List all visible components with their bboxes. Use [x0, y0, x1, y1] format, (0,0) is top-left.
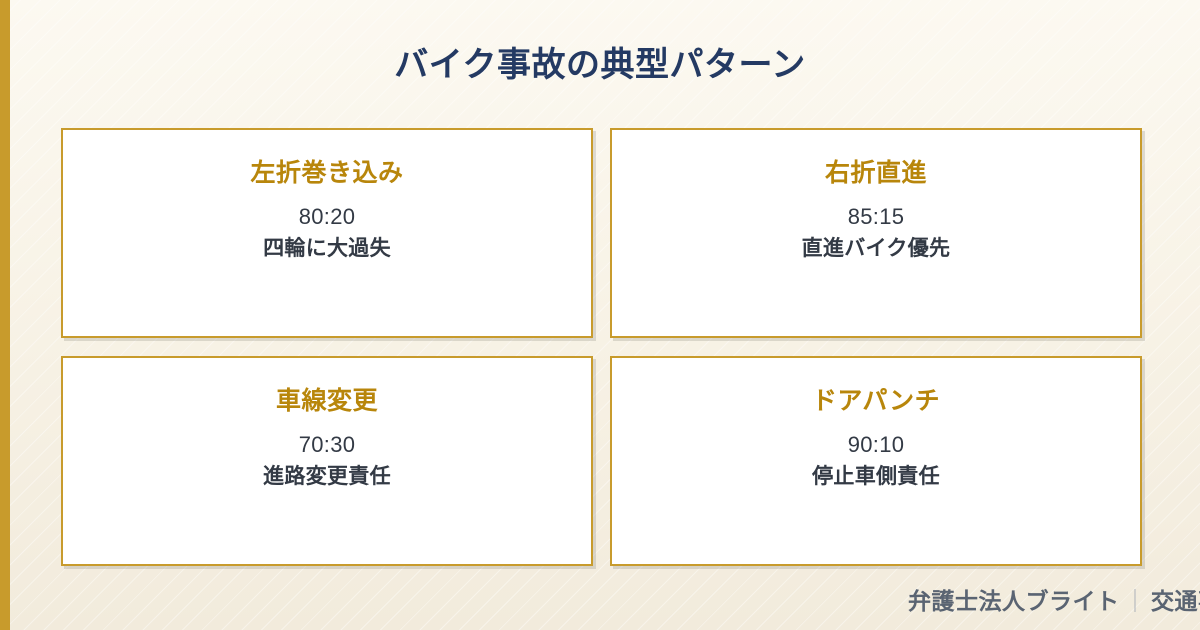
- footer-tagline: 交通事故 の: [1151, 588, 1200, 614]
- card-title: ドアパンチ: [612, 384, 1140, 418]
- card-fault-ratio: 70:30: [63, 430, 591, 460]
- pattern-card-door-punch: ドアパンチ 90:10 停止車側責任: [610, 356, 1142, 566]
- card-fault-ratio: 90:10: [612, 430, 1140, 460]
- left-accent-bar: [0, 0, 10, 630]
- pattern-card-grid: 左折巻き込み 80:20 四輪に大過失 右折直進 85:15 直進バイク優先 車…: [61, 128, 1142, 566]
- card-note: 四輪に大過失: [63, 234, 591, 264]
- card-note: 進路変更責任: [63, 462, 591, 492]
- pattern-card-lane-change: 車線変更 70:30 進路変更責任: [61, 356, 593, 566]
- pattern-card-right-turn: 右折直進 85:15 直進バイク優先: [610, 128, 1142, 338]
- footer-firm-name: 弁護士法人ブライト: [908, 588, 1120, 614]
- card-note: 直進バイク優先: [612, 234, 1140, 264]
- card-title: 左折巻き込み: [63, 156, 591, 190]
- slide-content: バイク事故の典型パターン 左折巻き込み 80:20 四輪に大過失 右折直進 85…: [0, 0, 1200, 630]
- slide-canvas: バイク事故の典型パターン 左折巻き込み 80:20 四輪に大過失 右折直進 85…: [0, 0, 1200, 630]
- card-note: 停止車側責任: [612, 462, 1140, 492]
- card-fault-ratio: 80:20: [63, 202, 591, 232]
- card-fault-ratio: 85:15: [612, 202, 1140, 232]
- page-title: バイク事故の典型パターン: [0, 43, 1200, 87]
- card-title: 右折直進: [612, 156, 1140, 190]
- footer-branding: 弁護士法人ブライト｜交通事故 の: [908, 585, 1200, 617]
- footer-separator: ｜: [1120, 588, 1152, 614]
- card-title: 車線変更: [63, 384, 591, 418]
- pattern-card-left-turn: 左折巻き込み 80:20 四輪に大過失: [61, 128, 593, 338]
